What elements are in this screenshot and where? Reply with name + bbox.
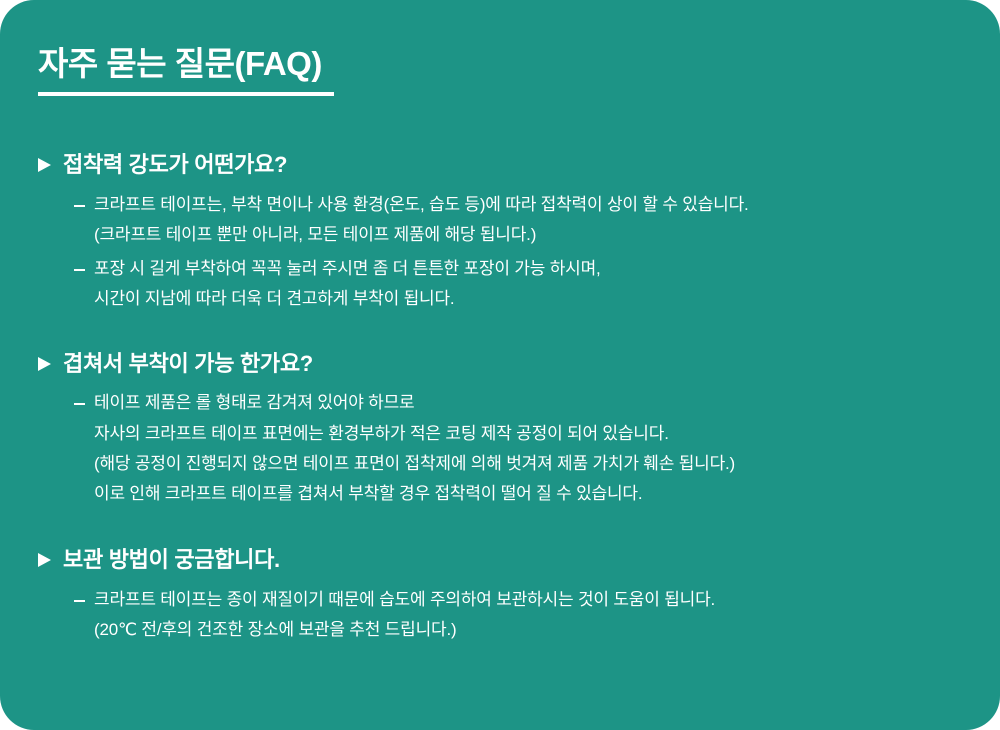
triangle-right-icon <box>38 553 51 567</box>
faq-question-row[interactable]: 겹쳐서 부착이 가능 한가요? <box>38 349 972 379</box>
dash-icon <box>74 269 85 271</box>
section-spacer <box>38 531 972 545</box>
faq-item: 접착력 강도가 어떤가요? 크라프트 테이프는, 부착 면이나 사용 환경(온도… <box>38 150 972 315</box>
triangle-right-icon <box>38 357 51 371</box>
dash-icon <box>74 205 85 207</box>
faq-question-text: 접착력 강도가 어떤가요? <box>63 150 287 180</box>
dash-icon <box>74 403 85 405</box>
faq-answer-line: 포장 시 길게 부착하여 꼭꼭 눌러 주시면 좀 더 튼튼한 포장이 가능 하시… <box>94 254 972 284</box>
faq-answer-line: 테이프 제품은 롤 형태로 감겨져 있어야 하므로 <box>94 388 972 418</box>
faq-answer-lines: 테이프 제품은 롤 형태로 감겨져 있어야 하므로 자사의 크라프트 테이프 표… <box>94 388 972 509</box>
faq-answer-line: (크라프트 테이프 뿐만 아니라, 모든 테이프 제품에 해당 됩니다.) <box>94 220 972 250</box>
faq-answer-item: 크라프트 테이프는, 부착 면이나 사용 환경(온도, 습도 등)에 따라 접착… <box>74 190 972 251</box>
faq-answer-list: 테이프 제품은 롤 형태로 감겨져 있어야 하므로 자사의 크라프트 테이프 표… <box>38 388 972 509</box>
faq-answer-line: 크라프트 테이프는, 부착 면이나 사용 환경(온도, 습도 등)에 따라 접착… <box>94 190 972 220</box>
faq-answer-line: 이로 인해 크라프트 테이프를 겹쳐서 부착할 경우 접착력이 떨어 질 수 있… <box>94 479 972 509</box>
faq-question-row[interactable]: 접착력 강도가 어떤가요? <box>38 150 972 180</box>
faq-answer-line: 크라프트 테이프는 종이 재질이기 때문에 습도에 주의하여 보관하시는 것이 … <box>94 585 972 615</box>
faq-answer-list: 크라프트 테이프는, 부착 면이나 사용 환경(온도, 습도 등)에 따라 접착… <box>38 190 972 315</box>
title-underline <box>38 92 334 96</box>
faq-answer-line: 시간이 지남에 따라 더욱 더 견고하게 부착이 됩니다. <box>94 284 972 314</box>
faq-answer-item: 크라프트 테이프는 종이 재질이기 때문에 습도에 주의하여 보관하시는 것이 … <box>74 585 972 646</box>
faq-answer-item: 포장 시 길게 부착하여 꼭꼭 눌러 주시면 좀 더 튼튼한 포장이 가능 하시… <box>74 254 972 315</box>
faq-panel: 자주 묻는 질문(FAQ) 접착력 강도가 어떤가요? 크라프트 테이프는, 부… <box>0 0 1000 730</box>
triangle-right-icon <box>38 158 51 172</box>
faq-answer-lines: 크라프트 테이프는, 부착 면이나 사용 환경(온도, 습도 등)에 따라 접착… <box>94 190 972 251</box>
page-title: 자주 묻는 질문(FAQ) <box>38 44 334 84</box>
faq-question-row[interactable]: 보관 방법이 궁금합니다. <box>38 545 972 575</box>
faq-list: 접착력 강도가 어떤가요? 크라프트 테이프는, 부착 면이나 사용 환경(온도… <box>38 150 972 646</box>
faq-answer-line: (해당 공정이 진행되지 않으면 테이프 표면이 접착제에 의해 벗겨져 제품 … <box>94 449 972 479</box>
faq-item: 보관 방법이 궁금합니다. 크라프트 테이프는 종이 재질이기 때문에 습도에 … <box>38 545 972 645</box>
faq-item: 겹쳐서 부착이 가능 한가요? 테이프 제품은 롤 형태로 감겨져 있어야 하므… <box>38 349 972 510</box>
faq-answer-lines: 크라프트 테이프는 종이 재질이기 때문에 습도에 주의하여 보관하시는 것이 … <box>94 585 972 646</box>
dash-icon <box>74 600 85 602</box>
faq-answer-item: 테이프 제품은 롤 형태로 감겨져 있어야 하므로 자사의 크라프트 테이프 표… <box>74 388 972 509</box>
faq-answer-line: 자사의 크라프트 테이프 표면에는 환경부하가 적은 코팅 제작 공정이 되어 … <box>94 419 972 449</box>
faq-answer-list: 크라프트 테이프는 종이 재질이기 때문에 습도에 주의하여 보관하시는 것이 … <box>38 585 972 646</box>
faq-question-text: 보관 방법이 궁금합니다. <box>63 545 280 575</box>
section-spacer <box>38 337 972 349</box>
faq-answer-line: (20℃ 전/후의 건조한 장소에 보관을 추천 드립니다.) <box>94 615 972 645</box>
faq-answer-lines: 포장 시 길게 부착하여 꼭꼭 눌러 주시면 좀 더 튼튼한 포장이 가능 하시… <box>94 254 972 315</box>
faq-header: 자주 묻는 질문(FAQ) <box>38 44 334 96</box>
faq-question-text: 겹쳐서 부착이 가능 한가요? <box>63 349 313 379</box>
